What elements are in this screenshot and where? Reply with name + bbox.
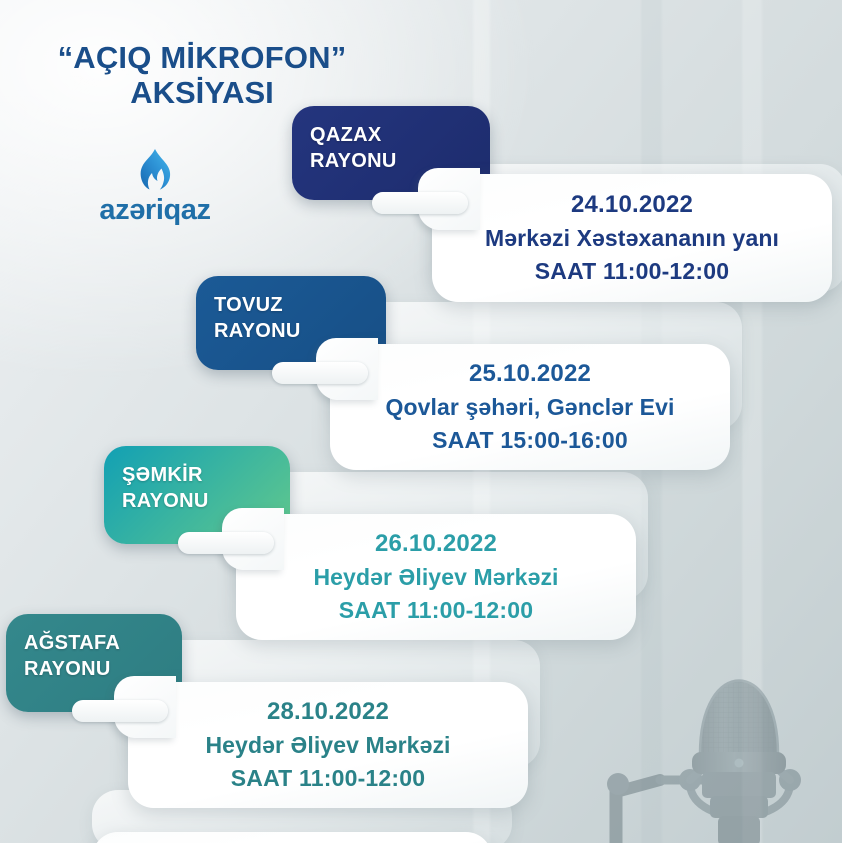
event-place: Qovlar şəhəri, Gənclər Evi (386, 391, 675, 424)
event-date: 28.10.2022 (267, 695, 389, 729)
title-line-1: “AÇIQ MİKROFON” (12, 40, 392, 75)
district-name-line-1: ŞƏMKİR (122, 462, 272, 488)
card-notch (178, 532, 274, 554)
event-date: 24.10.2022 (571, 188, 693, 222)
district-name-line-1: AĞSTAFA (24, 630, 164, 656)
event-time: SAAT 11:00-12:00 (339, 594, 534, 627)
logo-wordmark: azəriqaz (75, 196, 235, 225)
event-card-partial[interactable] (92, 832, 492, 843)
event-place: Heydər Əliyev Mərkəzi (205, 729, 450, 762)
event-card[interactable]: 28.10.2022 Heydər Əliyev Mərkəzi SAAT 11… (128, 682, 528, 808)
card-notch (72, 700, 168, 722)
card-notch (272, 362, 368, 384)
district-name-line-1: QAZAX (310, 122, 472, 148)
event-date: 25.10.2022 (469, 357, 591, 391)
page-title: “AÇIQ MİKROFON” AKSİYASI (12, 40, 392, 111)
event-time: SAAT 15:00-16:00 (432, 424, 628, 457)
event-time: SAAT 11:00-12:00 (231, 762, 426, 795)
azeriqaz-logo: azəriqaz (75, 148, 235, 225)
district-name-line-1: TOVUZ (214, 292, 368, 318)
title-line-2: AKSİYASI (12, 75, 392, 110)
event-place: Mərkəzi Xəstəxananın yanı (485, 222, 779, 255)
event-card[interactable]: 25.10.2022 Qovlar şəhəri, Gənclər Evi SA… (330, 344, 730, 470)
event-time: SAAT 11:00-12:00 (535, 255, 730, 288)
event-date: 26.10.2022 (375, 527, 497, 561)
event-card[interactable]: 26.10.2022 Heydər Əliyev Mərkəzi SAAT 11… (236, 514, 636, 640)
flame-icon (136, 148, 174, 192)
event-card[interactable]: 24.10.2022 Mərkəzi Xəstəxananın yanı SAA… (432, 174, 832, 302)
card-notch (372, 192, 468, 214)
event-place: Heydər Əliyev Mərkəzi (313, 561, 558, 594)
